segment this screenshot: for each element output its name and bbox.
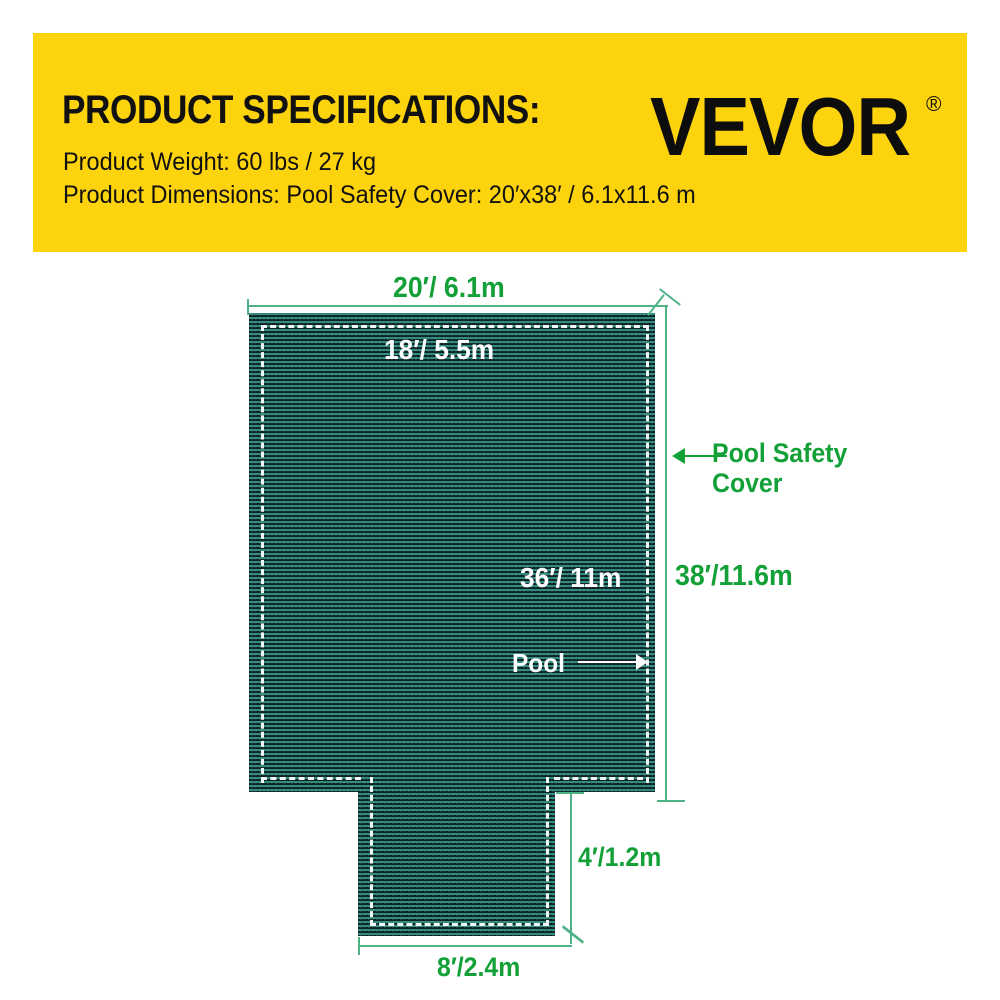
label-step-width: 8′/2.4m: [437, 952, 520, 983]
label-step-height: 4′/1.2m: [578, 842, 661, 873]
vevor-logo: VEVOR: [650, 85, 910, 168]
label-cover-width: 20′/ 6.1m: [393, 272, 505, 305]
spec-product-dimensions: Product Dimensions: Pool Safety Cover: 2…: [63, 181, 696, 210]
dimension-line-step-height: [570, 792, 572, 944]
dimension-tick-step-left: [358, 937, 360, 955]
dimension-tick-step-top: [556, 792, 584, 794]
label-pool-callout: Pool: [512, 648, 565, 679]
dimension-tick-step-right: [562, 926, 584, 944]
pool-arrow-icon: [636, 654, 648, 670]
pool-cover-step-panel: [358, 790, 555, 936]
dimension-line-top: [247, 305, 668, 307]
product-spec-page: PRODUCT SPECIFICATIONS: Product Weight: …: [0, 0, 1000, 1000]
dimension-tick-top-left: [247, 299, 249, 315]
pool-arrow-line: [578, 661, 638, 663]
label-pool-length: 36′/ 11m: [520, 562, 621, 594]
dimension-tick-right-bottom: [657, 800, 685, 802]
dimension-line-right: [665, 305, 667, 802]
spec-product-weight: Product Weight: 60 lbs / 27 kg: [63, 148, 376, 177]
label-cover-callout: Pool Safety Cover: [712, 438, 847, 498]
label-cover-callout-line2: Cover: [712, 468, 847, 498]
dimension-line-step-width: [358, 945, 572, 947]
specifications-banner: PRODUCT SPECIFICATIONS: Product Weight: …: [33, 33, 967, 252]
page-title: PRODUCT SPECIFICATIONS:: [62, 88, 540, 133]
label-cover-callout-line1: Pool Safety: [712, 438, 847, 468]
label-cover-length: 38′/11.6m: [675, 560, 793, 593]
registered-trademark-icon: ®: [926, 93, 941, 117]
label-pool-width: 18′/ 5.5m: [384, 334, 494, 366]
cover-arrow-icon: [672, 448, 685, 464]
pool-cover-main-panel: [249, 313, 655, 792]
